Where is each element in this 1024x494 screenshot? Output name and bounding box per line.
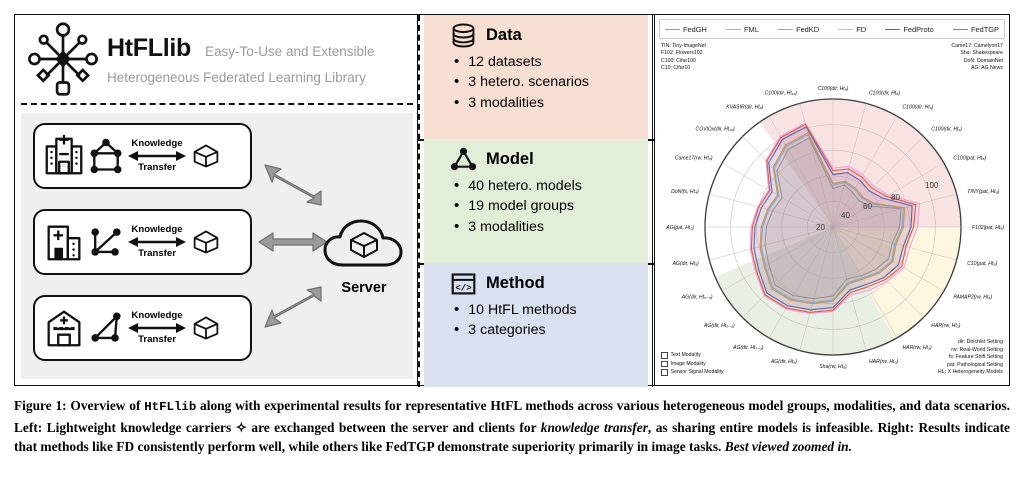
server-label: Server <box>321 280 407 296</box>
tick-label: 60 <box>863 202 872 211</box>
modality-checkbox[interactable] <box>661 352 668 359</box>
tick-label: 80 <box>891 193 900 202</box>
client-server-arrow-icon <box>261 163 325 207</box>
modality-checkbox[interactable] <box>661 369 668 376</box>
htfllib-logo-icon <box>21 17 105 101</box>
radar-axis-label: C100(dir, Ht₁₂) <box>765 91 798 97</box>
bullet-dot: • <box>454 322 459 337</box>
caption-emphasis: Best viewed zoomed in. <box>725 439 852 454</box>
bullet-text: 3 modalities <box>468 219 544 235</box>
transfer-label: Transfer <box>138 163 176 173</box>
setting-line: Htₓ: X Heterogeneity Models <box>938 369 1003 377</box>
radar-axis-label: HAR(rw, Ht₅) <box>869 359 899 365</box>
bullet-item: • 3 hetero. scenarios <box>434 74 642 90</box>
settings-legend: dir: Dirichlet Setting rw: Real-World Se… <box>938 339 1003 377</box>
database-icon <box>450 22 477 49</box>
section-model: Model • 40 hetero. models • 19 model gro… <box>424 139 648 263</box>
caption-part: Figure 1: Overview of <box>14 398 144 413</box>
hospital-building-icon <box>41 133 87 179</box>
knowledge-label: Knowledge <box>131 311 182 321</box>
radar-axis-label: AG(dir, Ht₅₋₂) <box>703 323 735 329</box>
server-node: Server <box>321 217 407 296</box>
radar-axis-label: C10(pat, Ht₈) <box>967 261 997 267</box>
bullet-item: • 12 datasets <box>434 54 642 70</box>
section-title: Data <box>486 26 522 45</box>
knowledge-transfer-block: Knowledge Transfer <box>126 311 188 345</box>
graph-model-icon <box>450 146 477 173</box>
bullet-dot: • <box>454 178 459 193</box>
knowledge-transfer-block: Knowledge Transfer <box>126 225 188 259</box>
hospital-building-icon <box>41 305 87 351</box>
client-server-arrow-icon <box>257 231 329 253</box>
bullet-dot: • <box>454 219 459 234</box>
bullet-item: • 3 modalities <box>434 219 642 235</box>
radar-axis-label: C100(dir, Ht₆) <box>869 91 900 97</box>
section-title: Model <box>486 150 534 169</box>
bullet-dot: • <box>454 95 459 110</box>
cloud-server-icon <box>321 217 407 275</box>
knowledge-carrier-cube-icon <box>192 229 220 255</box>
left-architecture-panel: HtFLlib Easy-To-Use and Extensible Heter… <box>14 14 418 386</box>
transfer-label: Transfer <box>138 335 176 345</box>
bidirectional-arrow-icon <box>128 235 186 249</box>
bullet-text: 12 datasets <box>468 54 541 70</box>
figure-page: HtFLlib Easy-To-Use and Extensible Heter… <box>0 0 1024 494</box>
bullet-text: 3 hetero. scenarios <box>468 74 589 90</box>
radar-axis-label: C100(dir, Ht₃) <box>903 104 934 110</box>
figure-container: HtFLlib Easy-To-Use and Extensible Heter… <box>14 14 1010 386</box>
modality-label: Image Modality <box>671 360 706 369</box>
brand-tagline-2: Heterogeneous Federated Learning Library <box>107 70 375 85</box>
model-graph-triangle-icon <box>88 307 124 349</box>
knowledge-transfer-block: Knowledge Transfer <box>126 139 188 173</box>
radar-axis-label: C100(pat, Ht₈) <box>953 155 986 161</box>
bullet-text: 3 modalities <box>468 95 544 111</box>
radar-axis-label: KVASIR(dir, Ht₈) <box>726 104 764 110</box>
bullet-item: • 10 HtFL methods <box>434 302 642 318</box>
logo-divider <box>21 103 413 105</box>
setting-line: dir: Dirichlet Setting <box>938 339 1003 347</box>
section-method: </> Method • 10 HtFL methods • 3 categor… <box>424 263 648 387</box>
modality-legend: Text Modality Image Modality Sensor Sign… <box>661 351 724 377</box>
caption-part: are exchanged between the server and cli… <box>247 420 541 435</box>
tick-label: 20 <box>816 223 825 232</box>
tick-label: 40 <box>841 211 850 220</box>
radar-axis-label: Came17(rw, Ht₅) <box>675 155 713 161</box>
client-card: Knowledge Transfer <box>33 295 252 361</box>
radar-axis-label: HAR(rw, Ht₂) <box>931 323 960 329</box>
radar-axis-label: AG(dir, Ht₅₋₁) <box>732 345 764 351</box>
radar-axis-label: C100(dir, Ht₉) <box>818 86 849 92</box>
caption-lib-name: HtFLlib <box>144 400 196 414</box>
bullet-text: 19 model groups <box>468 198 574 214</box>
knowledge-carrier-cube-icon <box>192 315 220 341</box>
hospital-building-icon <box>41 219 87 265</box>
knowledge-label: Knowledge <box>131 225 182 235</box>
bullet-text: 3 categories <box>468 322 545 338</box>
mid-left-dashed-divider <box>418 15 420 387</box>
radar-chart: 20 40 60 80 100 C100(dir, Ht₉)C100(dir, … <box>655 15 1010 386</box>
bidirectional-arrow-icon <box>128 149 186 163</box>
code-window-icon: </> <box>450 270 477 297</box>
client-server-arrow-icon <box>261 285 325 329</box>
middle-summary-panel: Data • 12 datasets • 3 hetero. scenarios… <box>418 14 654 386</box>
radar-axis-label: AG(pat, Ht₂) <box>665 225 694 231</box>
knowledge-label: Knowledge <box>131 139 182 149</box>
bullet-item: • 19 model groups <box>434 198 642 214</box>
tick-label: 100 <box>925 181 939 190</box>
client-card: Knowledge Transfer <box>33 209 252 275</box>
figure-caption: Figure 1: Overview of HtFLlib along with… <box>14 396 1010 457</box>
bullet-dot: • <box>454 74 459 89</box>
radar-axis-label: C100(dir, Ht₁) <box>931 127 962 133</box>
model-graph-square-icon <box>88 135 124 177</box>
modality-row[interactable]: Image Modality <box>661 360 724 369</box>
bullet-item: • 3 categories <box>434 322 642 338</box>
brand-header: HtFLlib Easy-To-Use and Extensible Heter… <box>15 15 417 103</box>
bullet-dot: • <box>454 198 459 213</box>
bidirectional-arrow-icon <box>128 321 186 335</box>
section-data: Data • 12 datasets • 3 hetero. scenarios… <box>424 15 648 139</box>
bullet-dot: • <box>454 302 459 317</box>
model-graph-path-icon <box>88 221 124 263</box>
knowledge-carrier-icon: ✧ <box>236 420 247 435</box>
modality-label: Sensor Signal Modality <box>671 368 724 377</box>
radar-axis-label: HAR(rw, Ht₃) <box>903 345 932 351</box>
client-card: Knowledge Transfer <box>33 123 252 189</box>
section-title: Method <box>486 274 545 293</box>
bullet-item: • 40 hetero. models <box>434 178 642 194</box>
setting-line: rw: Real-World Setting <box>938 347 1003 355</box>
knowledge-carrier-cube-icon <box>192 143 220 169</box>
radar-axis-label: COVIDx(dir, Ht₁₀) <box>696 127 735 133</box>
setting-line: fs: Feature Shift Setting <box>938 354 1003 362</box>
brand-tagline-1: Easy-To-Use and Extensible <box>205 44 375 59</box>
transfer-label: Transfer <box>138 249 176 259</box>
radar-axis-label: DoN(fs, Ht₄) <box>671 189 699 195</box>
clients-server-diagram: Knowledge Transfer <box>21 113 413 379</box>
bullet-item: • 3 modalities <box>434 95 642 111</box>
bullet-dot: • <box>454 54 459 69</box>
bullet-text: 10 HtFL methods <box>468 302 576 318</box>
setting-line: pat: Pathological Setting <box>938 362 1003 370</box>
mid-right-divider <box>652 15 653 387</box>
modality-checkbox[interactable] <box>661 361 668 368</box>
brand-name: HtFLlib <box>107 34 191 63</box>
radar-axis-label: PAMAP2(rw, Ht₆) <box>953 294 992 300</box>
radar-axis-label: TINY(pat, Ht₈) <box>967 189 999 195</box>
radar-axis-label: AG(dir, Ht₅) <box>672 261 699 267</box>
radar-axis-label: Sha(rw, Ht₅) <box>819 364 847 370</box>
svg-text:</>: </> <box>455 283 471 293</box>
radar-chart-panel: FedGH FML FedKD FD FedProto FedTGP <box>654 14 1010 386</box>
caption-emphasis: knowledge transfer <box>541 420 648 435</box>
bullet-text: 40 hetero. models <box>468 178 582 194</box>
brand-text: HtFLlib Easy-To-Use and Extensible Heter… <box>107 34 375 85</box>
modality-row[interactable]: Text Modality <box>661 351 724 360</box>
radar-axis-label: AG(dir, Ht₅₋₃) <box>681 294 713 300</box>
radar-axis-label: F102(pat, Ht₈) <box>972 225 1004 231</box>
modality-label: Text Modality <box>671 351 701 360</box>
radar-axis-label: AG(dir, Ht₅) <box>770 359 797 365</box>
modality-row[interactable]: Sensor Signal Modality <box>661 368 724 377</box>
